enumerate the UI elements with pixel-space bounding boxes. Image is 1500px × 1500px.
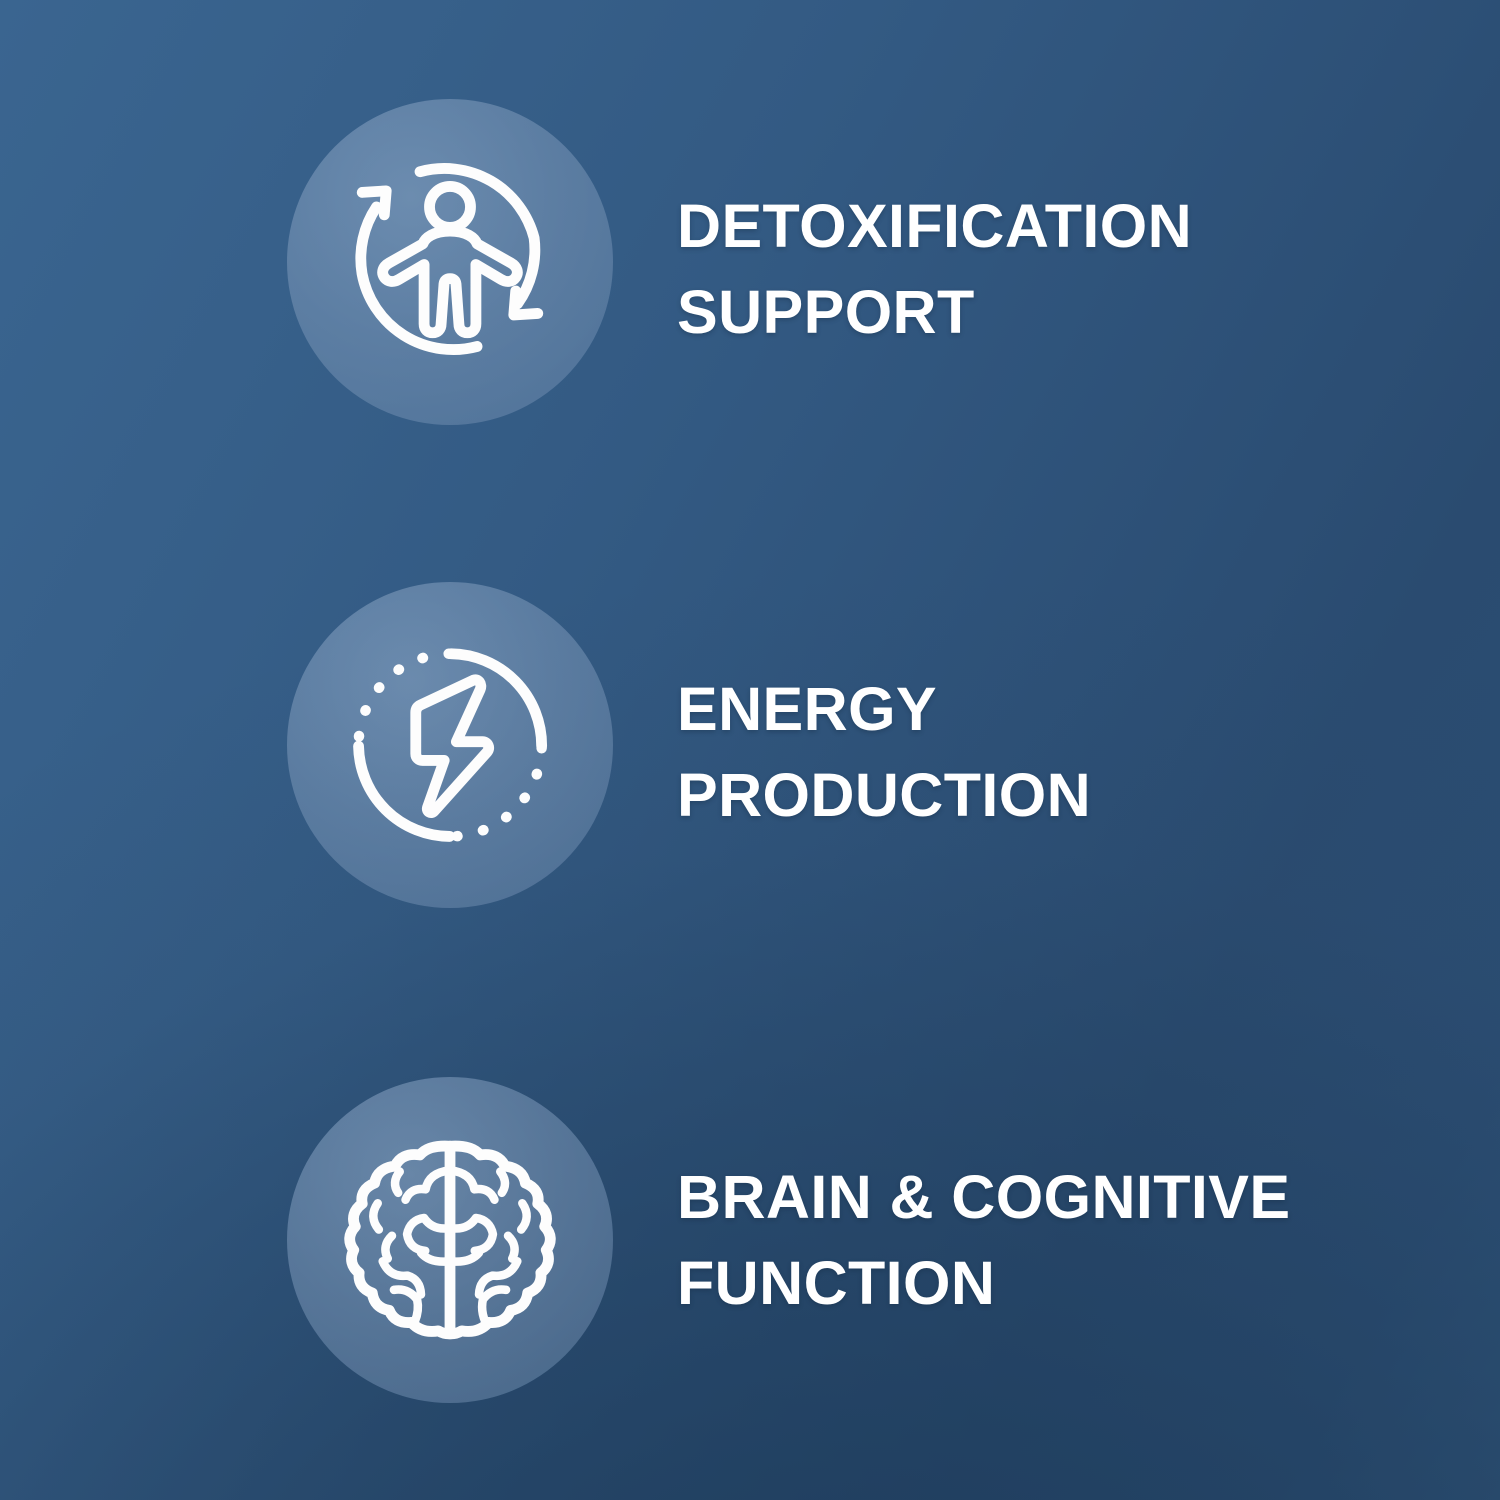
detox-cycle-person-icon [334, 146, 566, 378]
feature-label-brain: BRAIN & COGNITIVE FUNCTION [677, 1154, 1290, 1326]
icon-badge-detoxification [287, 99, 613, 425]
brain-icon [334, 1124, 566, 1356]
icon-badge-energy [287, 582, 613, 908]
feature-label-detoxification: DETOXIFICATION SUPPORT [677, 183, 1192, 355]
feature-label-energy: ENERGY PRODUCTION [677, 666, 1091, 838]
icon-badge-brain [287, 1077, 613, 1403]
energy-lightning-bolt-icon [334, 629, 566, 861]
feature-benefit-list: DETOXIFICATION SUPPORT ENERGY PRODUCTION [0, 0, 1500, 1500]
